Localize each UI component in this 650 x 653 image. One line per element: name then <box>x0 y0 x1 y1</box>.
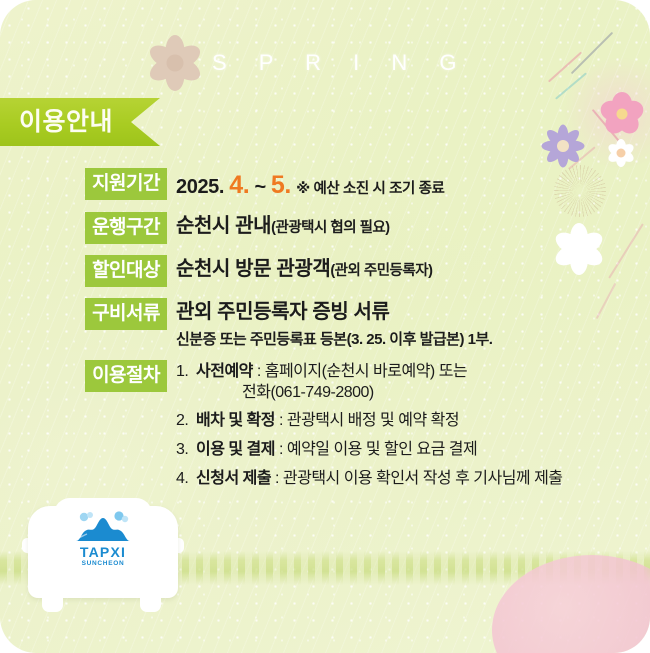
step-body: 배차 및 확정 : 관광택시 배정 및 예약 확정 <box>196 411 650 432</box>
pink-blob-bottom-right <box>492 555 650 653</box>
tapxi-logo: TAPXI SUNCHEON <box>59 510 147 568</box>
step-title: 배차 및 확정 <box>196 412 275 429</box>
info-row-required-documents: 구비서류 관외 주민등록자 증빙 서류 신분증 또는 주민등록표 등본(3. 2… <box>0 298 650 349</box>
step-number: 4. <box>176 469 196 490</box>
procedure-step: 3. 이용 및 결제 : 예약일 이용 및 할인 요금 결제 <box>176 440 650 461</box>
info-row-service-area: 운행구간 순천시 관내(관광택시 협의 필요) <box>0 212 650 244</box>
chip-cell: 이용절차 <box>0 360 176 392</box>
procedure-step: 4. 신청서 제출 : 관광택시 이용 확인서 작성 후 기사님께 제출 <box>176 469 650 490</box>
flower-purple-icon <box>539 122 587 170</box>
step-title: 사전예약 <box>196 363 253 380</box>
info-rows: 지원기간 2025. 4. ~ 5. ※ 예산 소진 시 조기 종료 운행구간 … <box>0 168 650 509</box>
step-separator: : <box>275 412 287 429</box>
period-note: ※ 예산 소진 시 조기 종료 <box>296 181 444 197</box>
procedure-step-list: 1. 사전예약 : 홈페이지(순천시 바로예약) 또는 전화(061-749-2… <box>176 362 650 490</box>
period-year: 2025. <box>176 176 224 198</box>
value-cell: 1. 사전예약 : 홈페이지(순천시 바로예약) 또는 전화(061-749-2… <box>176 360 650 498</box>
value-cell: 순천시 관내(관광택시 협의 필요) <box>176 212 650 238</box>
service-area-paren: (관광택시 협의 필요) <box>271 220 389 236</box>
logo-name: TAPXI <box>59 545 147 559</box>
logo-subtitle: SUNCHEON <box>59 561 147 568</box>
chip-cell: 구비서류 <box>0 298 176 330</box>
service-area-value: 순천시 관내(관광택시 협의 필요) <box>176 214 650 238</box>
discount-target-paren: (관외 주민등록자) <box>330 263 432 279</box>
step-text: 홈페이지(순천시 바로예약) 또는 <box>265 363 467 380</box>
info-row-discount-target: 할인대상 순천시 방문 관광객(관외 주민등록자) <box>0 255 650 287</box>
step-title: 이용 및 결제 <box>196 441 275 458</box>
period-month-start: 4. <box>229 171 249 199</box>
tapxi-mountain-wave-icon <box>72 510 134 544</box>
label-chip-support-period: 지원기간 <box>85 168 167 200</box>
value-cell: 2025. 4. ~ 5. ※ 예산 소진 시 조기 종료 <box>176 168 650 201</box>
step-separator: : <box>253 363 265 380</box>
discount-target-value: 순천시 방문 관광객(관외 주민등록자) <box>176 257 650 281</box>
value-cell: 관외 주민등록자 증빙 서류 신분증 또는 주민등록표 등본(3. 25. 이후… <box>176 298 650 349</box>
step-title: 신청서 제출 <box>196 470 271 487</box>
step-text: 관광택시 이용 확인서 작성 후 기사님께 제출 <box>283 470 563 487</box>
step-text: 관광택시 배정 및 예약 확정 <box>287 412 459 429</box>
taxi-wheel-right <box>140 592 161 612</box>
service-area-main: 순천시 관내 <box>176 215 271 237</box>
info-row-procedure: 이용절차 1. 사전예약 : 홈페이지(순천시 바로예약) 또는 전화(061-… <box>0 360 650 498</box>
step-separator: : <box>271 470 283 487</box>
streak-teal-icon <box>555 72 587 99</box>
step-continuation: 전화(061-749-2800) <box>242 383 650 404</box>
chip-cell: 지원기간 <box>0 168 176 200</box>
label-chip-required-documents: 구비서류 <box>85 298 167 330</box>
step-number: 3. <box>176 440 196 461</box>
period-tilde: ~ <box>254 176 265 198</box>
label-chip-discount-target: 할인대상 <box>85 255 167 287</box>
flower-pink-blossom-icon <box>600 92 644 136</box>
pink-glow-top-right <box>560 58 650 168</box>
blossom-stem-icon <box>592 109 624 147</box>
season-title: S P R I N G <box>212 50 470 76</box>
step-body: 이용 및 결제 : 예약일 이용 및 할인 요금 결제 <box>196 440 650 461</box>
procedure-step: 2. 배차 및 확정 : 관광택시 배정 및 예약 확정 <box>176 411 650 432</box>
label-chip-service-area: 운행구간 <box>85 212 167 244</box>
ribbon-label: 이용안내 <box>19 110 113 135</box>
label-chip-procedure: 이용절차 <box>85 360 167 392</box>
required-documents-value: 관외 주민등록자 증빙 서류 <box>176 300 650 324</box>
chip-cell: 운행구간 <box>0 212 176 244</box>
poster-card: S P R I N G 이용안내 지원기간 2025. 4. ~ 5. ※ 예산… <box>0 0 650 653</box>
discount-target-main: 순천시 방문 관광객 <box>176 258 330 280</box>
streak-gray-icon <box>571 32 613 74</box>
step-number: 1. <box>176 362 196 404</box>
taxi-illustration: TAPXI SUNCHEON <box>28 498 178 616</box>
step-body: 신청서 제출 : 관광택시 이용 확인서 작성 후 기사님께 제출 <box>196 469 650 490</box>
step-text: 예약일 이용 및 할인 요금 결제 <box>287 441 477 458</box>
step-separator: : <box>275 441 287 458</box>
streak-pink-icon <box>548 52 582 83</box>
flower-beige-icon <box>147 35 203 91</box>
period-month-end: 5. <box>271 171 291 199</box>
value-cell: 순천시 방문 관광객(관외 주민등록자) <box>176 255 650 281</box>
support-period-value: 2025. 4. ~ 5. ※ 예산 소진 시 조기 종료 <box>176 170 650 201</box>
step-number: 2. <box>176 411 196 432</box>
info-row-support-period: 지원기간 2025. 4. ~ 5. ※ 예산 소진 시 조기 종료 <box>0 168 650 201</box>
ribbon-banner: 이용안내 <box>0 98 160 146</box>
chip-cell: 할인대상 <box>0 255 176 287</box>
flower-white-small-icon <box>606 138 636 168</box>
procedure-step: 1. 사전예약 : 홈페이지(순천시 바로예약) 또는 전화(061-749-2… <box>176 362 650 404</box>
required-documents-subnote: 신분증 또는 주민등록표 등본(3. 25. 이후 발급본) 1부. <box>176 328 650 349</box>
step-body: 사전예약 : 홈페이지(순천시 바로예약) 또는 전화(061-749-2800… <box>196 362 650 404</box>
taxi-wheel-left <box>42 592 63 612</box>
